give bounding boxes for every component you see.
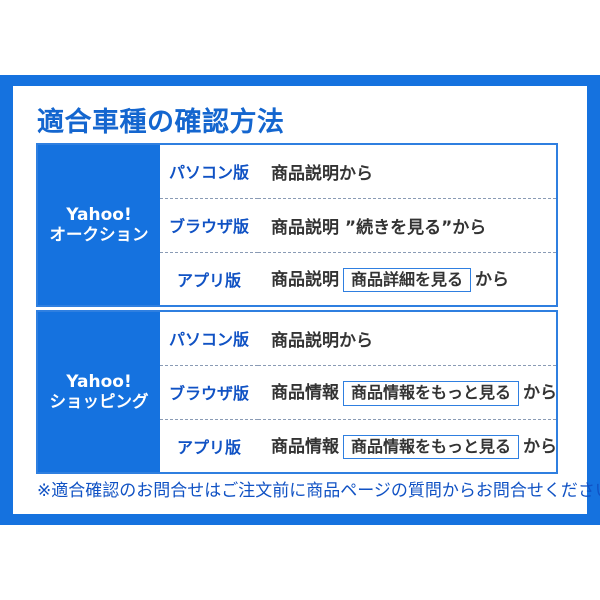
platform-label-app: アプリ版 (160, 252, 258, 306)
desc-suffix: から (523, 383, 557, 403)
desc-suffix: から (475, 270, 509, 290)
brand-line2: オークション (38, 225, 160, 244)
platform-label-app: アプリ版 (160, 419, 258, 473)
brand-line1: Yahoo! (38, 372, 160, 392)
section-yahoo-auction: Yahoo! オークション パソコン版 商品説明から ブラウザ版 (36, 143, 558, 307)
description-cell: 商品説明商品詳細を見るから (258, 252, 557, 306)
footer-note: ※適合確認のお問合せはご注文前に商品ページの質問からお問合せください。 (37, 476, 600, 501)
boxed-button-more-info[interactable]: 商品情報をもっと見る (343, 381, 519, 406)
platform-label-browser: ブラウザ版 (160, 365, 258, 419)
boxed-button-more-info[interactable]: 商品情報をもっと見る (343, 435, 519, 460)
blue-frame-border: 適合車種の確認方法 Yahoo! オークション パソコン版 (0, 75, 600, 525)
description-cell: 商品情報商品情報をもっと見るから (258, 365, 557, 419)
table-row: Yahoo! オークション パソコン版 商品説明から (37, 144, 557, 198)
brand-line1: Yahoo! (38, 205, 160, 225)
compatibility-table: Yahoo! オークション パソコン版 商品説明から ブラウザ版 (36, 143, 558, 474)
platform-label-pc: パソコン版 (160, 144, 258, 198)
description-cell: 商品情報商品情報をもっと見るから (258, 419, 557, 473)
desc-prefix: 商品説明 ”続きを見る”から (271, 218, 486, 238)
desc-prefix: 商品説明 (271, 270, 339, 290)
content-panel: 適合車種の確認方法 Yahoo! オークション パソコン版 (13, 86, 587, 514)
brand-line2: ショッピング (38, 392, 160, 411)
platform-label-browser: ブラウザ版 (160, 198, 258, 252)
desc-prefix: 商品情報 (271, 437, 339, 457)
desc-prefix: 商品説明から (271, 164, 373, 184)
desc-suffix: から (523, 437, 557, 457)
brand-cell-shopping: Yahoo! ショッピング (37, 311, 160, 473)
platform-label-pc: パソコン版 (160, 311, 258, 365)
screenshot-root: 適合車種の確認方法 Yahoo! オークション パソコン版 (0, 0, 600, 600)
description-cell: 商品説明 ”続きを見る”から (258, 198, 557, 252)
page-title: 適合車種の確認方法 (37, 100, 285, 139)
boxed-button-product-detail[interactable]: 商品詳細を見る (343, 268, 471, 293)
desc-prefix: 商品情報 (271, 383, 339, 403)
brand-cell-auction: Yahoo! オークション (37, 144, 160, 306)
desc-prefix: 商品説明から (271, 331, 373, 351)
table-row: Yahoo! ショッピング パソコン版 商品説明から (37, 311, 557, 365)
description-cell: 商品説明から (258, 311, 557, 365)
description-cell: 商品説明から (258, 144, 557, 198)
section-yahoo-shopping: Yahoo! ショッピング パソコン版 商品説明から ブラウザ版 (36, 310, 558, 474)
